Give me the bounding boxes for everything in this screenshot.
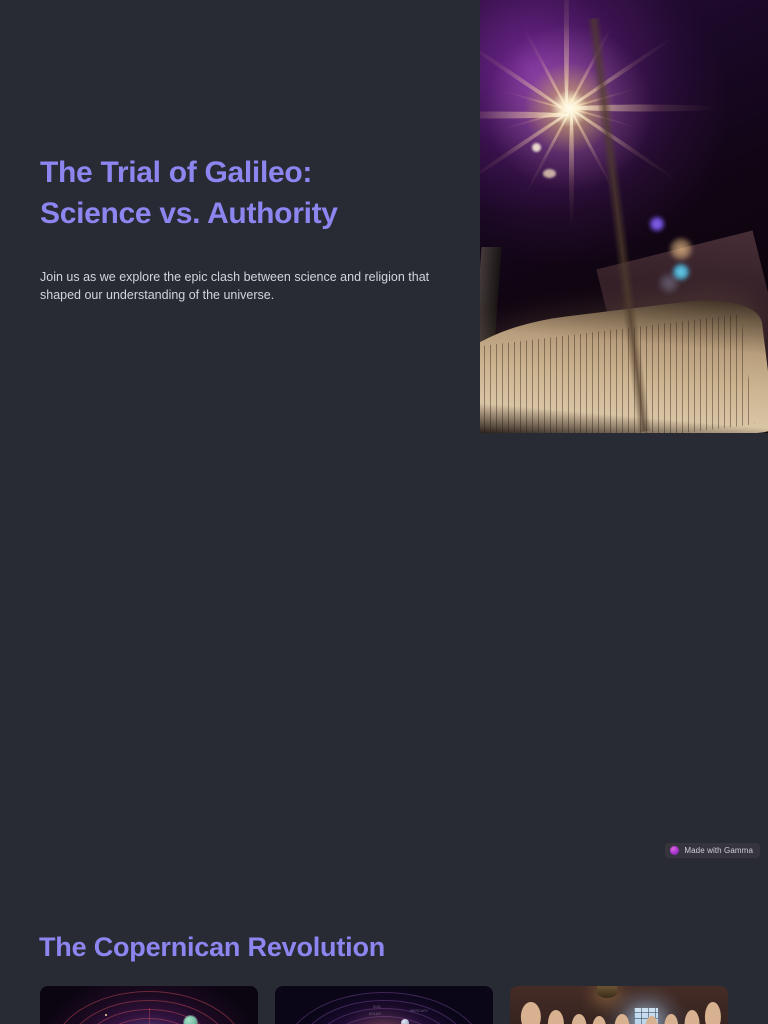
hero-text-block: The Trial of Galileo: Science vs. Author… [40,152,460,304]
hero-image [480,0,768,433]
lens-flare-dot [659,273,679,293]
gamma-logo-icon [670,846,679,855]
orbit-label: SUN [373,1005,381,1009]
hero-title-line-1: The Trial of Galileo: [40,156,312,189]
hero-title-line-2: Science vs. Authority [40,197,338,230]
card-geocentric-model[interactable]: Geocentric Model The long-held belief th… [40,986,258,1024]
page-title: The Trial of Galileo: Science vs. Author… [40,152,460,234]
geocentric-model-image [40,986,258,1024]
heliocentric-model-image: SUN SOLAR ORBIT SYSTEM MERCURY EARTH [275,986,493,1024]
lens-flare-dot [532,143,541,152]
planet-mercury-icon [401,1019,409,1024]
made-with-gamma-badge[interactable]: Made with Gamma [665,843,760,858]
hero-subtitle: Join us as we explore the epic clash bet… [40,268,445,304]
gamma-badge-label: Made with Gamma [684,846,753,855]
new-paradigm-image [510,986,728,1024]
orbit-label: SOLAR [369,1012,381,1016]
lens-flare-dot [650,217,664,231]
hero-section: The Trial of Galileo: Science vs. Author… [0,0,768,433]
sun-flare-icon [569,108,571,110]
orbit-label: MERCURY [410,1009,428,1013]
copernican-heading: The Copernican Revolution [39,932,385,963]
card-a-new-paradigm[interactable]: A New Paradigm Copernicus's theory ignit… [510,986,728,1024]
lens-flare-dot [543,169,556,178]
planet-saturn-icon [184,1016,197,1024]
card-heliocentric-model[interactable]: SUN SOLAR ORBIT SYSTEM MERCURY EARTH Hel… [275,986,493,1024]
